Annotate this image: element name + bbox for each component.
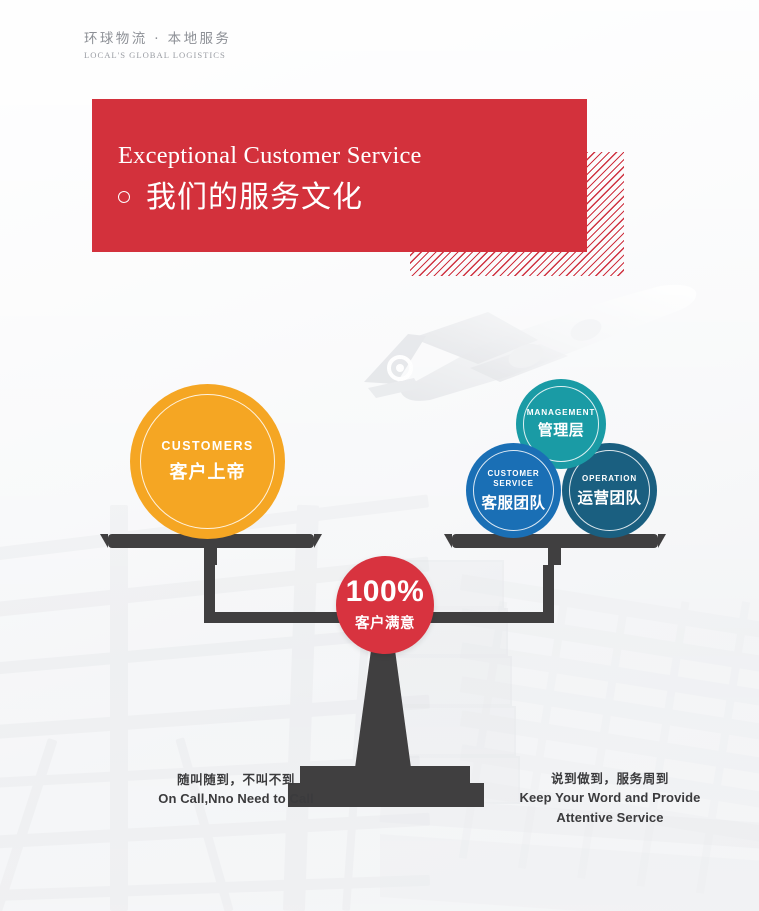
scale-stem-right xyxy=(548,547,561,565)
circle-customers-label-cn: 客户上帝 xyxy=(170,458,246,484)
circle-operation-label-cn: 运营团队 xyxy=(577,486,641,508)
caption-right: 说到做到，服务周到 Keep Your Word and Provide Att… xyxy=(485,770,735,828)
headline-chinese: 我们的服务文化 xyxy=(146,172,363,216)
poster-canvas: 环球物流 · 本地服务 LOCAL'S GLOBAL LOGISTICS Exc… xyxy=(0,0,759,911)
caption-right-cn: 说到做到，服务周到 xyxy=(485,770,735,788)
logo-chinese: 环球物流 · 本地服务 xyxy=(84,30,231,48)
caption-left: 随叫随到，不叫不到 On Call,Nno Need to Call xyxy=(116,771,356,809)
circle-satisfaction[interactable]: 100% 客户满意 xyxy=(336,556,434,654)
scale-pan-right xyxy=(452,534,658,548)
circle-customers-label-en: CUSTOMERS xyxy=(161,439,253,453)
caption-left-cn: 随叫随到，不叫不到 xyxy=(116,771,356,789)
scale-post-right xyxy=(543,565,554,615)
logo-english: LOCAL'S GLOBAL LOGISTICS xyxy=(84,50,231,60)
building-facade-icon xyxy=(459,600,759,911)
circle-management-label-en: MANAGEMENT xyxy=(527,408,596,417)
circle-customer-service-label-en-2: SERVICE xyxy=(493,479,534,489)
pan-left-taper-start xyxy=(100,534,108,548)
pan-right-taper-start xyxy=(444,534,452,548)
scale-post-left xyxy=(204,565,215,615)
circle-customer-service-label-cn: 客服团队 xyxy=(481,491,545,513)
circle-management-label-cn: 管理层 xyxy=(538,419,585,440)
circle-customer-service-label-en-1: CUSTOMER xyxy=(487,469,539,479)
pan-right-taper-end xyxy=(658,534,666,548)
circle-customer-service[interactable]: CUSTOMER SERVICE 客服团队 xyxy=(466,443,561,538)
headline-chinese-row: 我们的服务文化 xyxy=(118,172,363,216)
scale-column xyxy=(355,640,411,768)
satisfaction-label-cn: 客户满意 xyxy=(355,612,415,633)
satisfaction-value: 100% xyxy=(346,577,425,607)
circle-bullet-icon xyxy=(118,191,130,203)
brand-logo: 环球物流 · 本地服务 LOCAL'S GLOBAL LOGISTICS xyxy=(84,30,231,60)
headline-english: Exceptional Customer Service xyxy=(118,142,422,170)
caption-left-en: On Call,Nno Need to Call xyxy=(116,790,356,809)
circle-operation-label-en: OPERATION xyxy=(582,474,637,483)
caption-right-en-1: Keep Your Word and Provide xyxy=(485,789,735,808)
caption-right-en-2: Attentive Service xyxy=(485,809,735,828)
circle-customers[interactable]: CUSTOMERS 客户上帝 xyxy=(130,384,285,539)
headline-banner: Exceptional Customer Service 我们的服务文化 xyxy=(92,99,587,252)
scale-stem-left xyxy=(204,547,217,565)
pan-left-taper-end xyxy=(314,534,322,548)
